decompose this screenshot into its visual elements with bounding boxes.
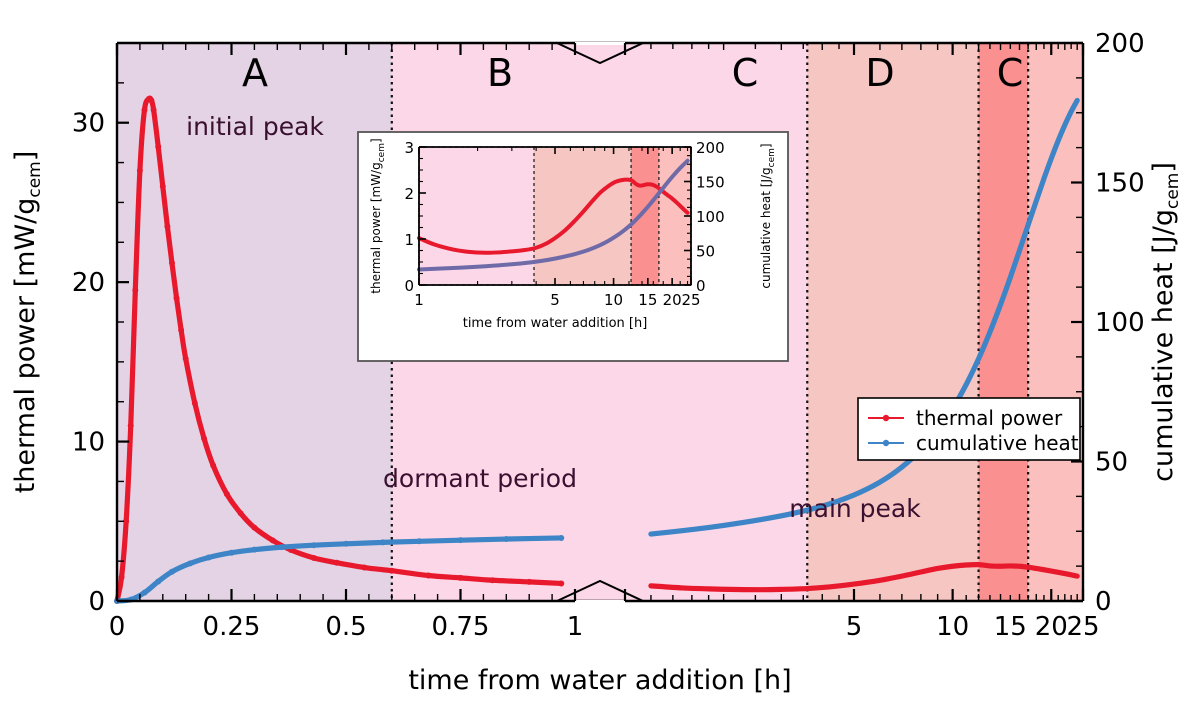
inset-y-tick-label-right: 50 bbox=[696, 243, 715, 261]
legend: thermal powercumulative heat bbox=[858, 398, 1080, 460]
inset-x-tick-label: 20 bbox=[663, 291, 682, 309]
inset-x-tick-label: 10 bbox=[604, 291, 623, 309]
data-point bbox=[141, 590, 147, 596]
data-point bbox=[132, 287, 138, 293]
data-point bbox=[164, 223, 170, 229]
data-point bbox=[178, 327, 184, 333]
axis-break-gap-bottom bbox=[575, 600, 625, 603]
data-point bbox=[169, 260, 175, 266]
data-point bbox=[251, 525, 257, 531]
data-point bbox=[311, 542, 317, 548]
annotation-0: initial peak bbox=[186, 112, 324, 141]
x-tick-label: 5 bbox=[846, 612, 863, 642]
data-point bbox=[155, 144, 161, 150]
y-axis-title-left: thermal power [mW/gcem] bbox=[10, 151, 45, 494]
x-axis-title: time from water addition [h] bbox=[408, 665, 791, 696]
annotation-1: dormant period bbox=[383, 464, 577, 493]
y-tick-label-left: 30 bbox=[72, 109, 105, 139]
data-point bbox=[458, 575, 464, 581]
legend-swatch-dot bbox=[883, 415, 889, 421]
x-tick-label: 0.75 bbox=[432, 612, 490, 642]
region-letter-1: B bbox=[487, 51, 513, 95]
inset-y-tick-label-right: 150 bbox=[696, 174, 725, 192]
legend-label-1: cumulative heat bbox=[916, 431, 1079, 455]
y-tick-label-right: 200 bbox=[1095, 29, 1145, 59]
data-point bbox=[526, 579, 532, 585]
data-point bbox=[192, 400, 198, 406]
inset-y-tick-label-left: 3 bbox=[404, 139, 414, 157]
inset-region-band bbox=[534, 147, 631, 285]
inset-chart: 15101520250123050100150200time from wate… bbox=[358, 132, 788, 361]
data-point bbox=[380, 539, 386, 545]
inset-y-tick-label-right: 100 bbox=[696, 208, 725, 226]
data-point bbox=[279, 544, 285, 550]
data-point bbox=[343, 541, 349, 547]
annotation-2: main peak bbox=[789, 494, 921, 523]
data-point bbox=[183, 356, 189, 362]
region-letter-2: C bbox=[732, 51, 759, 95]
x-tick-label: 0 bbox=[109, 612, 126, 642]
data-point bbox=[361, 565, 367, 571]
data-point bbox=[270, 537, 276, 543]
data-point bbox=[151, 107, 157, 113]
y-axis-title-right: cumulative heat [J/gcem] bbox=[1148, 162, 1183, 482]
data-point bbox=[251, 547, 257, 553]
x-tick-label: 15 bbox=[994, 612, 1027, 642]
data-point bbox=[503, 536, 509, 542]
data-point bbox=[558, 580, 564, 586]
data-point bbox=[558, 535, 564, 541]
axis-break-gap-top bbox=[575, 42, 625, 45]
region-letter-0: A bbox=[242, 51, 268, 95]
data-point bbox=[169, 569, 175, 575]
legend-label-0: thermal power bbox=[916, 406, 1063, 430]
x-tick-label: 20 bbox=[1035, 612, 1068, 642]
inset-x-tick-label: 15 bbox=[638, 291, 657, 309]
data-point bbox=[334, 560, 340, 566]
data-point bbox=[210, 462, 216, 468]
data-point bbox=[425, 572, 431, 578]
region-band bbox=[979, 43, 1029, 601]
x-tick-label: 0.25 bbox=[203, 612, 261, 642]
data-point bbox=[311, 555, 317, 561]
data-point bbox=[137, 168, 143, 174]
data-point bbox=[160, 183, 166, 189]
data-point bbox=[224, 491, 230, 497]
legend-swatch-dot bbox=[883, 440, 889, 446]
data-point bbox=[458, 537, 464, 543]
inset-region-band bbox=[631, 147, 659, 285]
y-tick-label-right: 50 bbox=[1095, 448, 1128, 478]
data-point bbox=[141, 107, 147, 113]
inset-x-tick-label: 5 bbox=[550, 291, 560, 309]
data-point bbox=[123, 518, 129, 524]
data-point bbox=[206, 554, 212, 560]
data-point bbox=[238, 510, 244, 516]
data-point bbox=[155, 578, 161, 584]
y-tick-label-left: 20 bbox=[72, 268, 105, 298]
inset-y-tick-label-right: 0 bbox=[696, 277, 706, 295]
data-point bbox=[128, 423, 134, 429]
inset-x-axis-title: time from water addition [h] bbox=[463, 316, 648, 331]
inset-y-tick-label-left: 1 bbox=[404, 231, 414, 249]
chart-svg: 00.250.50.751510152025010203005010015020… bbox=[0, 0, 1200, 720]
x-tick-label: 0.5 bbox=[325, 612, 366, 642]
data-point bbox=[174, 295, 180, 301]
x-tick-label: 10 bbox=[936, 612, 969, 642]
data-point bbox=[389, 568, 395, 574]
data-point bbox=[490, 577, 496, 583]
inset-x-tick-label: 1 bbox=[414, 291, 424, 309]
inset-y-tick-label-left: 2 bbox=[404, 185, 414, 203]
inset-y-tick-label-left: 0 bbox=[404, 277, 414, 295]
data-point bbox=[148, 97, 154, 103]
y-tick-label-left: 10 bbox=[72, 428, 105, 458]
region-letter-3: D bbox=[865, 51, 894, 95]
inset-y-tick-label-right: 200 bbox=[696, 139, 725, 157]
y-tick-label-left: 0 bbox=[88, 587, 105, 617]
data-point bbox=[187, 560, 193, 566]
data-point bbox=[416, 538, 422, 544]
x-tick-label: 1 bbox=[567, 612, 584, 642]
data-point bbox=[119, 574, 125, 580]
data-point bbox=[229, 550, 235, 556]
y-tick-label-right: 100 bbox=[1095, 308, 1145, 338]
y-tick-label-right: 0 bbox=[1095, 587, 1112, 617]
chart-figure: 00.250.50.751510152025010203005010015020… bbox=[0, 0, 1200, 720]
data-point bbox=[201, 435, 207, 441]
region-letter-4: C bbox=[997, 51, 1024, 95]
y-tick-label-right: 150 bbox=[1095, 169, 1145, 199]
